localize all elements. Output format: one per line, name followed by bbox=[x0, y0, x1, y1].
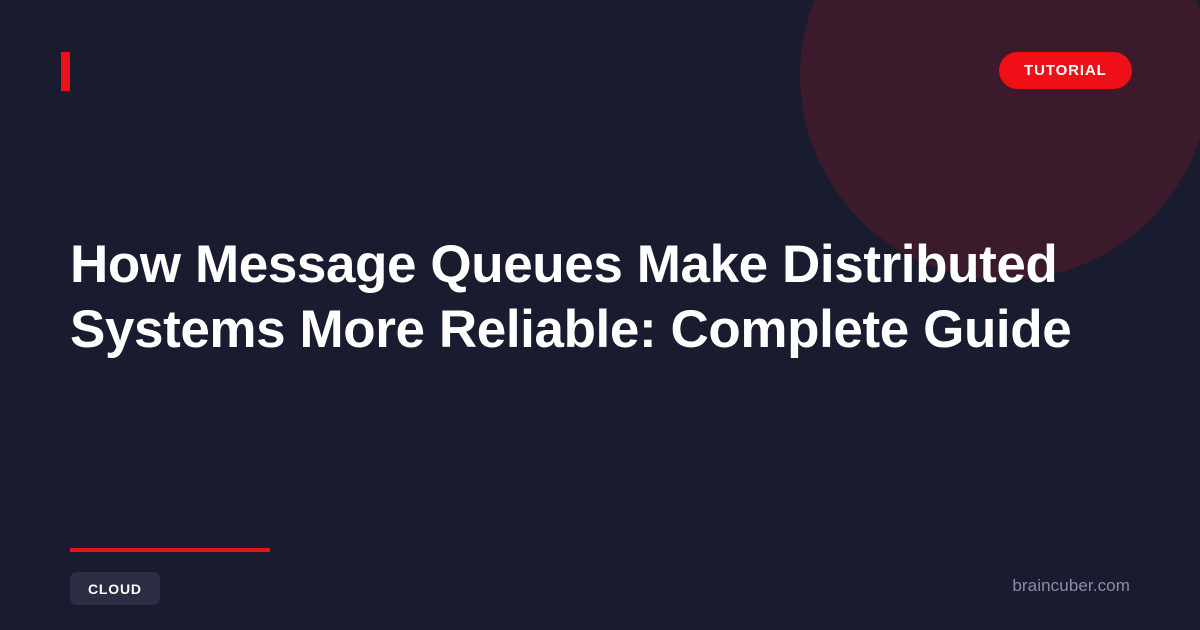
cloud-category-badge[interactable]: CLOUD bbox=[70, 572, 160, 605]
cloud-badge-label: CLOUD bbox=[88, 581, 142, 597]
tutorial-badge[interactable]: TUTORIAL bbox=[999, 52, 1132, 89]
page-title: How Message Queues Make Distributed Syst… bbox=[70, 232, 1090, 362]
site-url-label: braincuber.com bbox=[1012, 576, 1130, 596]
tutorial-badge-label: TUTORIAL bbox=[1024, 62, 1107, 79]
social-share-card: TUTORIAL How Message Queues Make Distrib… bbox=[0, 0, 1200, 630]
footer-divider-rule bbox=[70, 548, 270, 552]
accent-tick-marker bbox=[61, 52, 70, 91]
